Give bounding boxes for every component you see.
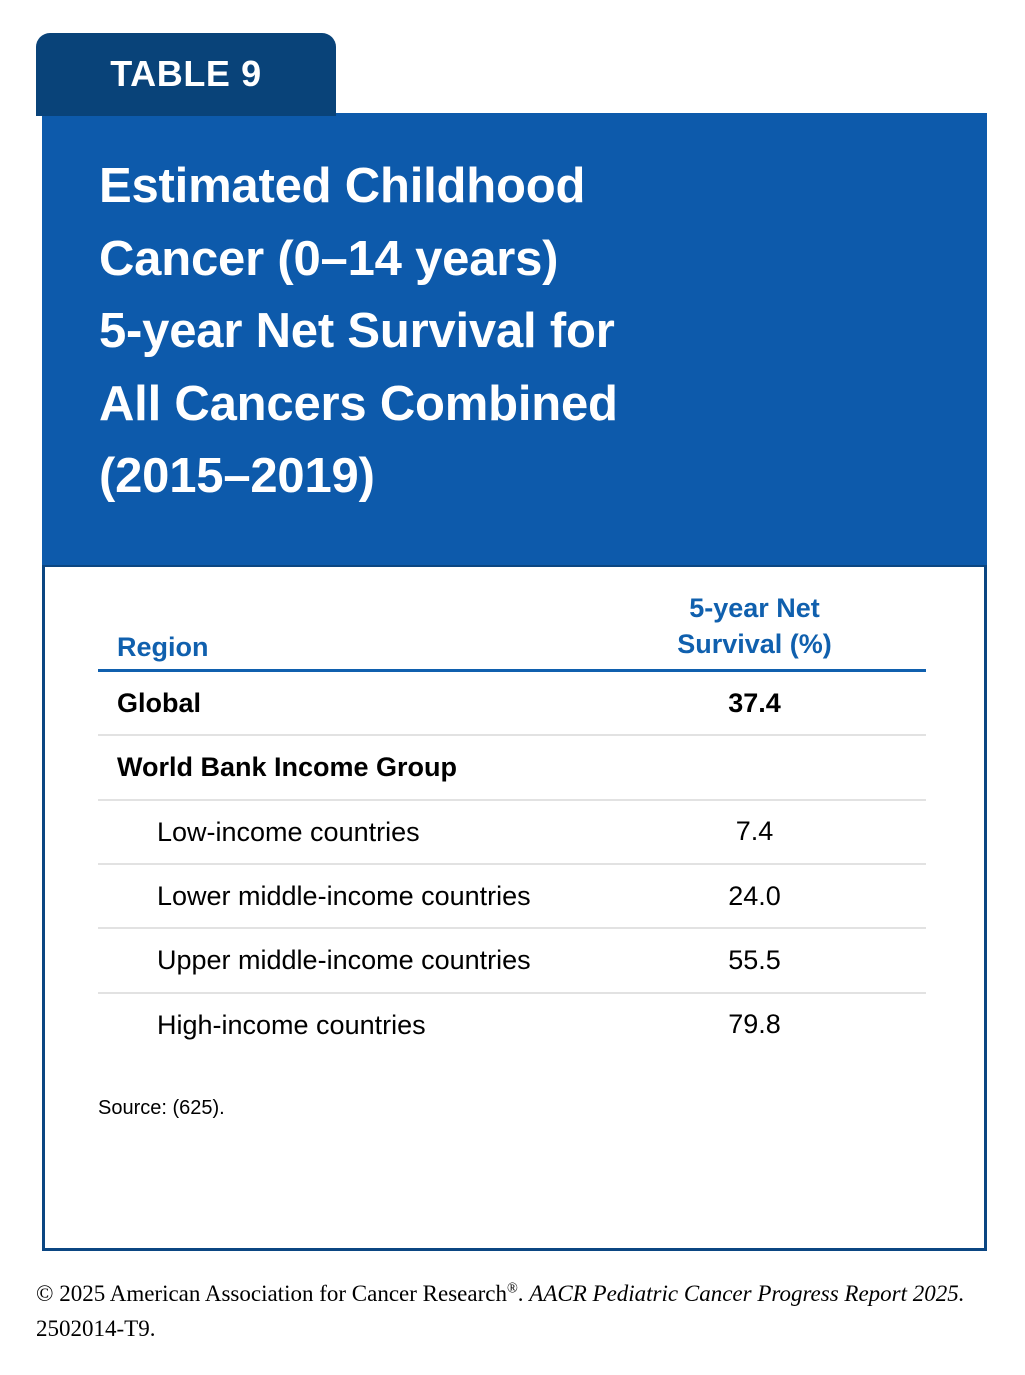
row-value: 24.0 bbox=[628, 869, 926, 924]
row-label: Lower middle-income countries bbox=[98, 865, 628, 927]
table-row: Low-income countries 7.4 bbox=[98, 801, 926, 863]
report-title: AACR Pediatric Cancer Progress Report 20… bbox=[529, 1281, 964, 1306]
table-number-label: TABLE 9 bbox=[36, 33, 336, 116]
table-row: Global 37.4 bbox=[98, 672, 926, 734]
row-value: 55.5 bbox=[628, 933, 926, 988]
table-header-band: Estimated Childhood Cancer (0–14 years) … bbox=[42, 113, 987, 565]
table-card-body: Region 5-year Net Survival (%) Global 37… bbox=[42, 563, 987, 1251]
data-table: Region 5-year Net Survival (%) Global 37… bbox=[98, 589, 926, 1120]
table-row: World Bank Income Group bbox=[98, 736, 926, 798]
row-value: 7.4 bbox=[628, 804, 926, 859]
table-header-row: Region 5-year Net Survival (%) bbox=[98, 589, 926, 669]
table-row: High-income countries 79.8 bbox=[98, 994, 926, 1056]
copyright-text: © 2025 American Association for Cancer R… bbox=[36, 1281, 507, 1306]
table-row: Upper middle-income countries 55.5 bbox=[98, 929, 926, 991]
table-number-tab: TABLE 9 bbox=[36, 33, 336, 116]
copyright-footer: © 2025 American Association for Cancer R… bbox=[36, 1277, 1001, 1347]
row-label: High-income countries bbox=[98, 994, 628, 1056]
table-source-note: Source: (625). bbox=[98, 1056, 926, 1120]
row-label: Low-income countries bbox=[98, 801, 628, 863]
row-value bbox=[628, 755, 926, 779]
copyright-separator: . bbox=[518, 1281, 530, 1306]
row-value: 37.4 bbox=[628, 676, 926, 731]
row-label: Upper middle-income countries bbox=[98, 929, 628, 991]
table-figure: TABLE 9 Estimated Childhood Cancer (0–14… bbox=[0, 0, 1025, 1375]
row-value: 79.8 bbox=[628, 997, 926, 1052]
registered-trademark-icon: ® bbox=[507, 1280, 518, 1296]
document-id: 2502014-T9. bbox=[36, 1316, 155, 1341]
column-header-region: Region bbox=[98, 632, 628, 669]
table-row: Lower middle-income countries 24.0 bbox=[98, 865, 926, 927]
column-header-survival: 5-year Net Survival (%) bbox=[628, 591, 926, 669]
page-title: Estimated Childhood Cancer (0–14 years) … bbox=[99, 150, 929, 513]
row-label: World Bank Income Group bbox=[98, 736, 628, 798]
row-label: Global bbox=[98, 672, 628, 734]
